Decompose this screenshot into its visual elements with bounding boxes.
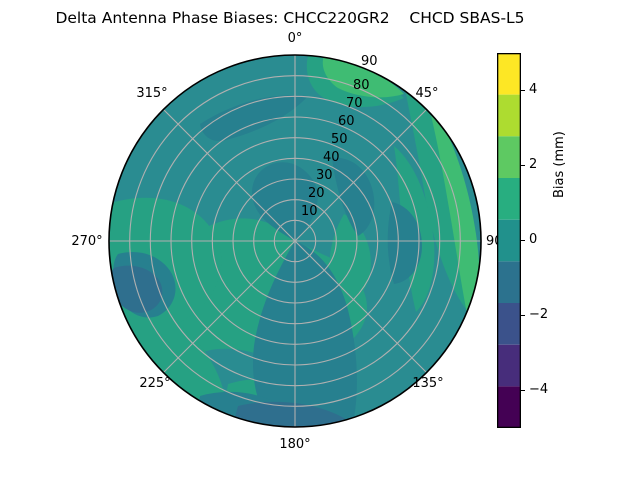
r-tick-50: 50	[331, 132, 348, 147]
r-tick-60: 60	[338, 114, 355, 129]
theta-tick-225: 225°	[131, 376, 179, 391]
colorbar-tickmark-0	[521, 240, 525, 241]
figure-canvas: Delta Antenna Phase Biases: CHCC220GR2 C…	[0, 0, 640, 480]
r-tick-10: 10	[301, 204, 318, 219]
theta-tick-135: 135°	[404, 376, 452, 391]
colorbar-svg	[497, 53, 521, 428]
colorbar-tickmark-m4	[521, 390, 525, 391]
theta-tick-270: 270°	[63, 234, 111, 249]
colorbar-tick-minus2: −2	[529, 308, 548, 322]
colorbar[interactable]	[497, 53, 521, 428]
theta-tick-315: 315°	[128, 86, 176, 101]
theta-tick-45: 45°	[406, 86, 448, 101]
polar-grid-spokes	[109, 55, 481, 427]
r-tick-20: 20	[308, 186, 325, 201]
colorbar-tickmark-2	[521, 165, 525, 166]
r-tick-90: 90	[361, 54, 378, 69]
colorbar-tick-0: 0	[529, 233, 537, 247]
colorbar-tickmark-4	[521, 90, 525, 91]
figure-title: Delta Antenna Phase Biases: CHCC220GR2 C…	[0, 8, 580, 28]
colorbar-bands	[497, 53, 521, 428]
colorbar-tick-2: 2	[529, 158, 537, 172]
polar-plot-svg	[108, 54, 482, 428]
colorbar-tick-minus4: −4	[529, 383, 548, 397]
theta-tick-180: 180°	[271, 437, 319, 452]
colorbar-tickmark-m2	[521, 315, 525, 316]
r-tick-70: 70	[346, 96, 363, 111]
colorbar-tick-4: 4	[529, 83, 537, 97]
r-tick-40: 40	[323, 150, 340, 165]
r-tick-80: 80	[353, 78, 370, 93]
theta-tick-0: 0°	[276, 31, 314, 46]
r-tick-30: 30	[316, 168, 333, 183]
colorbar-axis-label: Bias (mm)	[553, 131, 567, 198]
polar-axes[interactable]	[108, 54, 482, 428]
